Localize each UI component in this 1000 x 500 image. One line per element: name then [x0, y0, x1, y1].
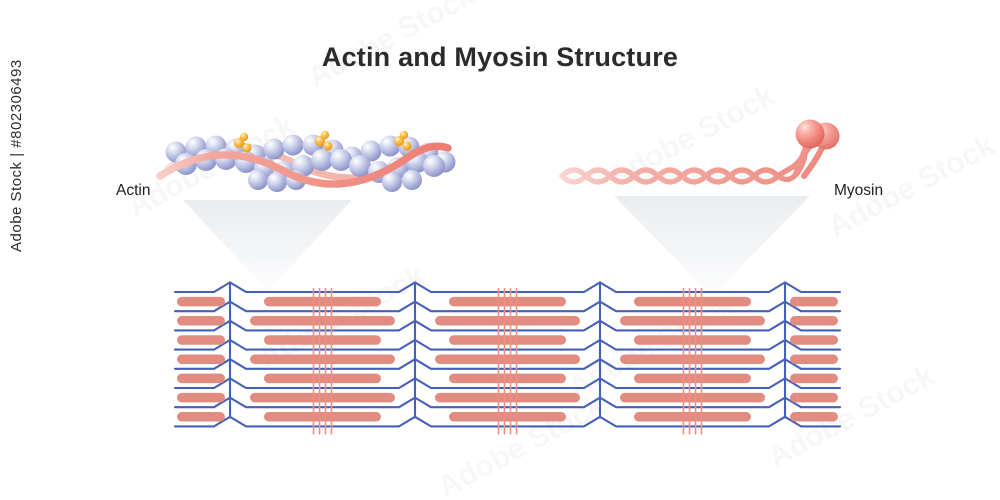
myosin-tail-strand-b — [562, 142, 814, 182]
myosin-head-front — [796, 120, 825, 149]
illustration-canvas: Adobe Stock Adobe Stock Adobe Stock Adob… — [0, 0, 1000, 500]
myosin-molecule — [0, 0, 1000, 500]
